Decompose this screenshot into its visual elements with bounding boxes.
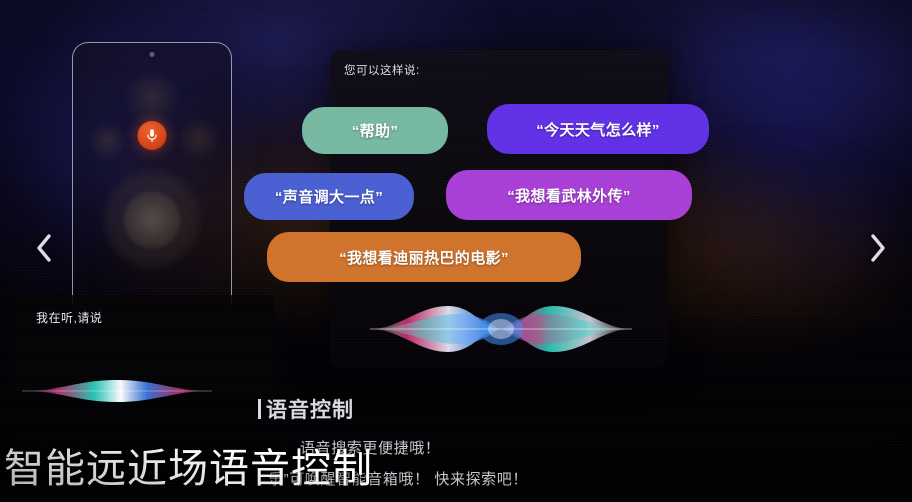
phone-top-glow: [123, 69, 181, 127]
phone-camera-dot: [150, 52, 155, 57]
mic-halo-left: [87, 121, 127, 161]
pulse-ring-inner: [123, 191, 181, 249]
microphone-icon[interactable]: [138, 121, 167, 150]
suggestion-chip-help[interactable]: “帮助”: [302, 107, 448, 154]
heading-accent-bar: [258, 399, 261, 419]
section-heading: 语音控制: [258, 394, 354, 424]
suggestion-chip-watch-movie[interactable]: “我想看迪丽热巴的电影”: [267, 232, 581, 282]
suggestion-chip-weather[interactable]: “今天天气怎么样”: [487, 104, 709, 154]
voice-waveform-small: [22, 378, 212, 404]
section-heading-label: 语音控制: [266, 394, 354, 424]
screen-root: 我在听,请说 您可以这样说: “帮助” “今天天气怎么样”: [0, 0, 912, 502]
listening-status-text: 我在听,请说: [36, 309, 102, 326]
overlay-caption: 智能远近场语音控制: [4, 436, 373, 494]
dialog-title: 您可以这样说:: [344, 62, 420, 78]
mic-halo-right: [177, 117, 221, 161]
chevron-right-icon[interactable]: [864, 228, 892, 268]
suggestion-chip-volume-up[interactable]: “声音调大一点”: [244, 173, 414, 220]
phone-mockup: [72, 42, 232, 305]
voice-waveform-large: [370, 298, 632, 360]
chevron-left-icon[interactable]: [30, 228, 58, 268]
suggestion-chip-watch-show[interactable]: “我想看武林外传”: [446, 170, 692, 220]
